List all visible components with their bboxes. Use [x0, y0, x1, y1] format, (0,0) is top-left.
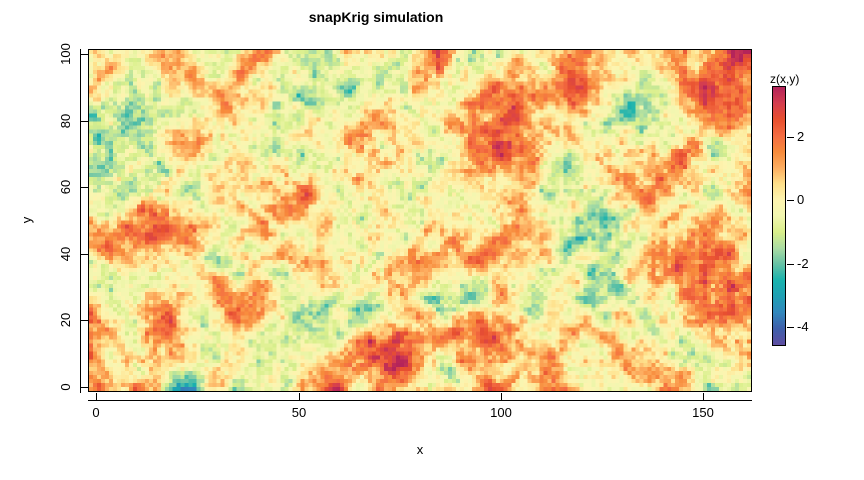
y-tick-mark: [80, 254, 88, 255]
x-tick-mark: [703, 393, 704, 401]
x-tick-mark: [299, 393, 300, 401]
colorbar-gradient: [773, 87, 785, 345]
legend-tick-label: 2: [797, 129, 804, 145]
y-tick-mark: [80, 387, 88, 388]
legend-tick-mark: [787, 200, 794, 201]
y-tick-label: 40: [58, 247, 74, 261]
x-tick-mark: [501, 393, 502, 401]
y-tick-label: 0: [58, 383, 74, 390]
x-tick-mark: [96, 393, 97, 401]
x-axis-title: x: [88, 442, 752, 458]
y-tick-mark: [80, 320, 88, 321]
legend-tick-mark: [787, 137, 794, 138]
x-tick-label: 150: [692, 405, 714, 421]
y-tick-label: 100: [58, 43, 74, 65]
legend-tick-mark: [787, 264, 794, 265]
heatmap-raster: [89, 50, 751, 391]
y-tick-mark: [80, 121, 88, 122]
x-tick-label: 100: [490, 405, 512, 421]
colorbar[interactable]: [772, 86, 786, 346]
y-tick-label: 80: [58, 114, 74, 128]
legend-tick-mark: [787, 327, 794, 328]
x-tick-label: 0: [92, 405, 99, 421]
heatmap-panel[interactable]: [88, 49, 752, 392]
legend-tick-label: 0: [797, 192, 804, 208]
y-axis-line: [80, 49, 81, 393]
y-tick-mark: [80, 54, 88, 55]
x-axis-line: [88, 400, 752, 401]
y-tick-label: 60: [58, 180, 74, 194]
legend-tick-label: -2: [797, 256, 809, 272]
y-tick-mark: [80, 187, 88, 188]
y-tick-label: 20: [58, 313, 74, 327]
page-title: snapKrig simulation: [0, 8, 752, 26]
x-tick-label: 50: [292, 405, 306, 421]
plot-root: snapKrig simulation 050100150 0204060801…: [0, 0, 864, 480]
legend-title: z(x,y): [770, 72, 799, 86]
y-axis-title: y: [19, 217, 35, 224]
legend-tick-label: -4: [797, 319, 809, 335]
